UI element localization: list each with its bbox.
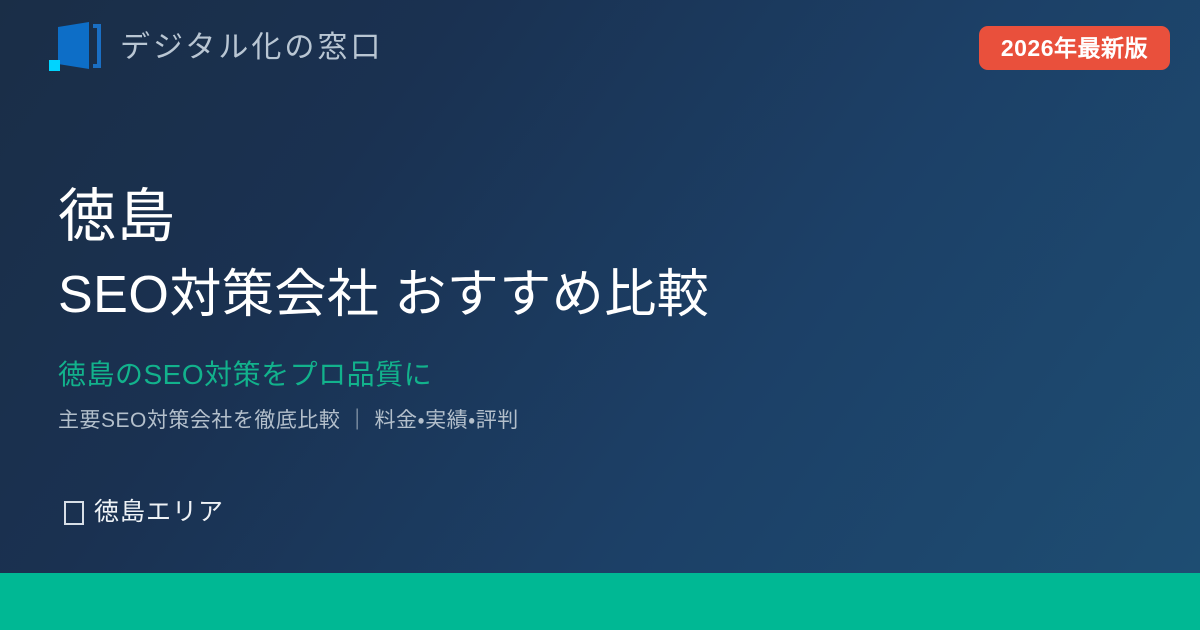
card-body: 徳島 SEO対策会社 おすすめ比較 徳島のSEO対策をプロ品質に 主要SEO対策… (58, 185, 1148, 433)
brand-lockup: デジタル化の窓口 (48, 19, 383, 77)
page-title-subject: SEO対策会社 おすすめ比較 (58, 264, 1148, 326)
page-title-region: 徳島 (58, 185, 1148, 250)
door-window-logo-icon (48, 19, 104, 77)
brand-name: デジタル化の窓口 (120, 33, 383, 63)
location-pin-icon (64, 501, 84, 525)
og-image-card: デジタル化の窓口 2026年最新版 徳島 SEO対策会社 おすすめ比較 徳島のS… (0, 0, 1200, 630)
subtitle: 主要SEO対策会社を徹底比較 ｜ 料金・実績・評判 (58, 408, 1148, 433)
tagline: 徳島のSEO対策をプロ品質に (58, 358, 1148, 392)
card-header: デジタル化の窓口 2026年最新版 (0, 0, 1200, 96)
area-label: 徳島エリア (94, 500, 224, 525)
bottom-accent-bar (0, 573, 1200, 630)
year-badge: 2026年最新版 (979, 26, 1170, 70)
area-indicator: 徳島エリア (64, 500, 224, 525)
